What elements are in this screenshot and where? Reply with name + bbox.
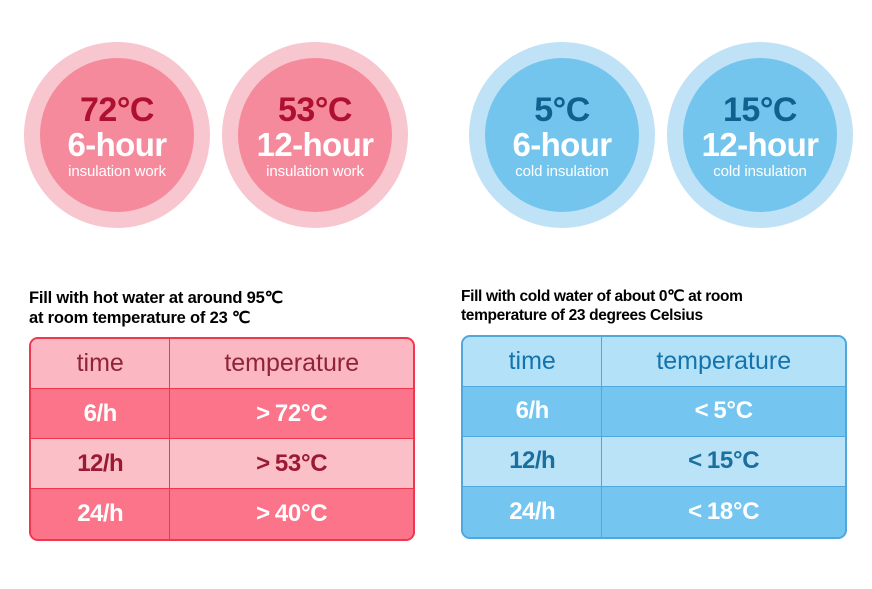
table-row: 6/h <5°C xyxy=(463,387,845,437)
badge-6h-cold: 5°C 6-hour cold insulation xyxy=(469,42,655,228)
hot-temperature-table: time temperature 6/h >72°C 12/h >53°C 24… xyxy=(29,337,415,541)
badge-inner-circle: 72°C 6-hour insulation work xyxy=(40,58,194,212)
badge-duration: 6-hour xyxy=(512,128,611,162)
badge-temperature: 72°C xyxy=(80,93,154,127)
hot-panel-caption: Fill with hot water at around 95℃ at roo… xyxy=(29,288,415,328)
comparator-symbol: > xyxy=(256,500,270,527)
badge-12h-hot: 53°C 12-hour insulation work xyxy=(222,42,408,228)
badge-inner-circle: 53°C 12-hour insulation work xyxy=(238,58,392,212)
badge-subtitle: cold insulation xyxy=(713,164,807,179)
header-time: time xyxy=(463,337,602,387)
badge-12h-cold: 15°C 12-hour cold insulation xyxy=(667,42,853,228)
cell-temperature: <15°C xyxy=(602,437,845,487)
temperature-value: 53°C xyxy=(275,450,327,477)
cell-time: 12/h xyxy=(463,437,602,487)
comparator-symbol: < xyxy=(695,397,709,424)
cell-temperature: >40°C xyxy=(170,489,413,539)
badge-subtitle: insulation work xyxy=(68,164,166,179)
table-row: 24/h <18°C xyxy=(463,487,845,537)
cell-temperature: <5°C xyxy=(602,387,845,437)
temperature-value: 15°C xyxy=(707,447,759,474)
comparator-symbol: < xyxy=(688,498,702,525)
header-time: time xyxy=(31,339,170,389)
cell-temperature: >53°C xyxy=(170,439,413,489)
badge-subtitle: insulation work xyxy=(266,164,364,179)
temperature-value: 40°C xyxy=(275,500,327,527)
badge-duration: 12-hour xyxy=(702,128,819,162)
badge-row: 72°C 6-hour insulation work 53°C 12-hour… xyxy=(0,0,872,240)
cell-temperature: <18°C xyxy=(602,487,845,537)
cell-temperature: >72°C xyxy=(170,389,413,439)
cell-time: 6/h xyxy=(463,387,602,437)
badge-inner-circle: 15°C 12-hour cold insulation xyxy=(683,58,837,212)
badge-inner-circle: 5°C 6-hour cold insulation xyxy=(485,58,639,212)
table-row: 12/h >53°C xyxy=(31,439,413,489)
table-row: 12/h <15°C xyxy=(463,437,845,487)
badge-duration: 12-hour xyxy=(257,128,374,162)
badge-6h-hot: 72°C 6-hour insulation work xyxy=(24,42,210,228)
badge-temperature: 15°C xyxy=(723,93,797,127)
badge-temperature: 53°C xyxy=(278,93,352,127)
temperature-value: 5°C xyxy=(713,397,752,424)
badge-temperature: 5°C xyxy=(534,93,590,127)
cold-water-panel: Fill with cold water of about 0℃ at room… xyxy=(461,288,847,539)
cell-time: 12/h xyxy=(31,439,170,489)
temperature-value: 18°C xyxy=(707,498,759,525)
temperature-value: 72°C xyxy=(275,400,327,427)
cell-time: 6/h xyxy=(31,389,170,439)
cell-time: 24/h xyxy=(463,487,602,537)
hot-water-panel: Fill with hot water at around 95℃ at roo… xyxy=(29,288,415,541)
table-header-row: time temperature xyxy=(463,337,845,387)
comparator-symbol: > xyxy=(256,450,270,477)
table-row: 6/h >72°C xyxy=(31,389,413,439)
table-header-row: time temperature xyxy=(31,339,413,389)
cell-time: 24/h xyxy=(31,489,170,539)
badge-duration: 6-hour xyxy=(67,128,166,162)
cold-temperature-table: time temperature 6/h <5°C 12/h <15°C 24/… xyxy=(461,335,847,539)
cold-panel-caption: Fill with cold water of about 0℃ at room… xyxy=(461,288,847,326)
table-row: 24/h >40°C xyxy=(31,489,413,539)
badge-subtitle: cold insulation xyxy=(515,164,609,179)
comparator-symbol: > xyxy=(256,400,270,427)
header-temperature: temperature xyxy=(602,337,845,387)
header-temperature: temperature xyxy=(170,339,413,389)
comparator-symbol: < xyxy=(688,447,702,474)
